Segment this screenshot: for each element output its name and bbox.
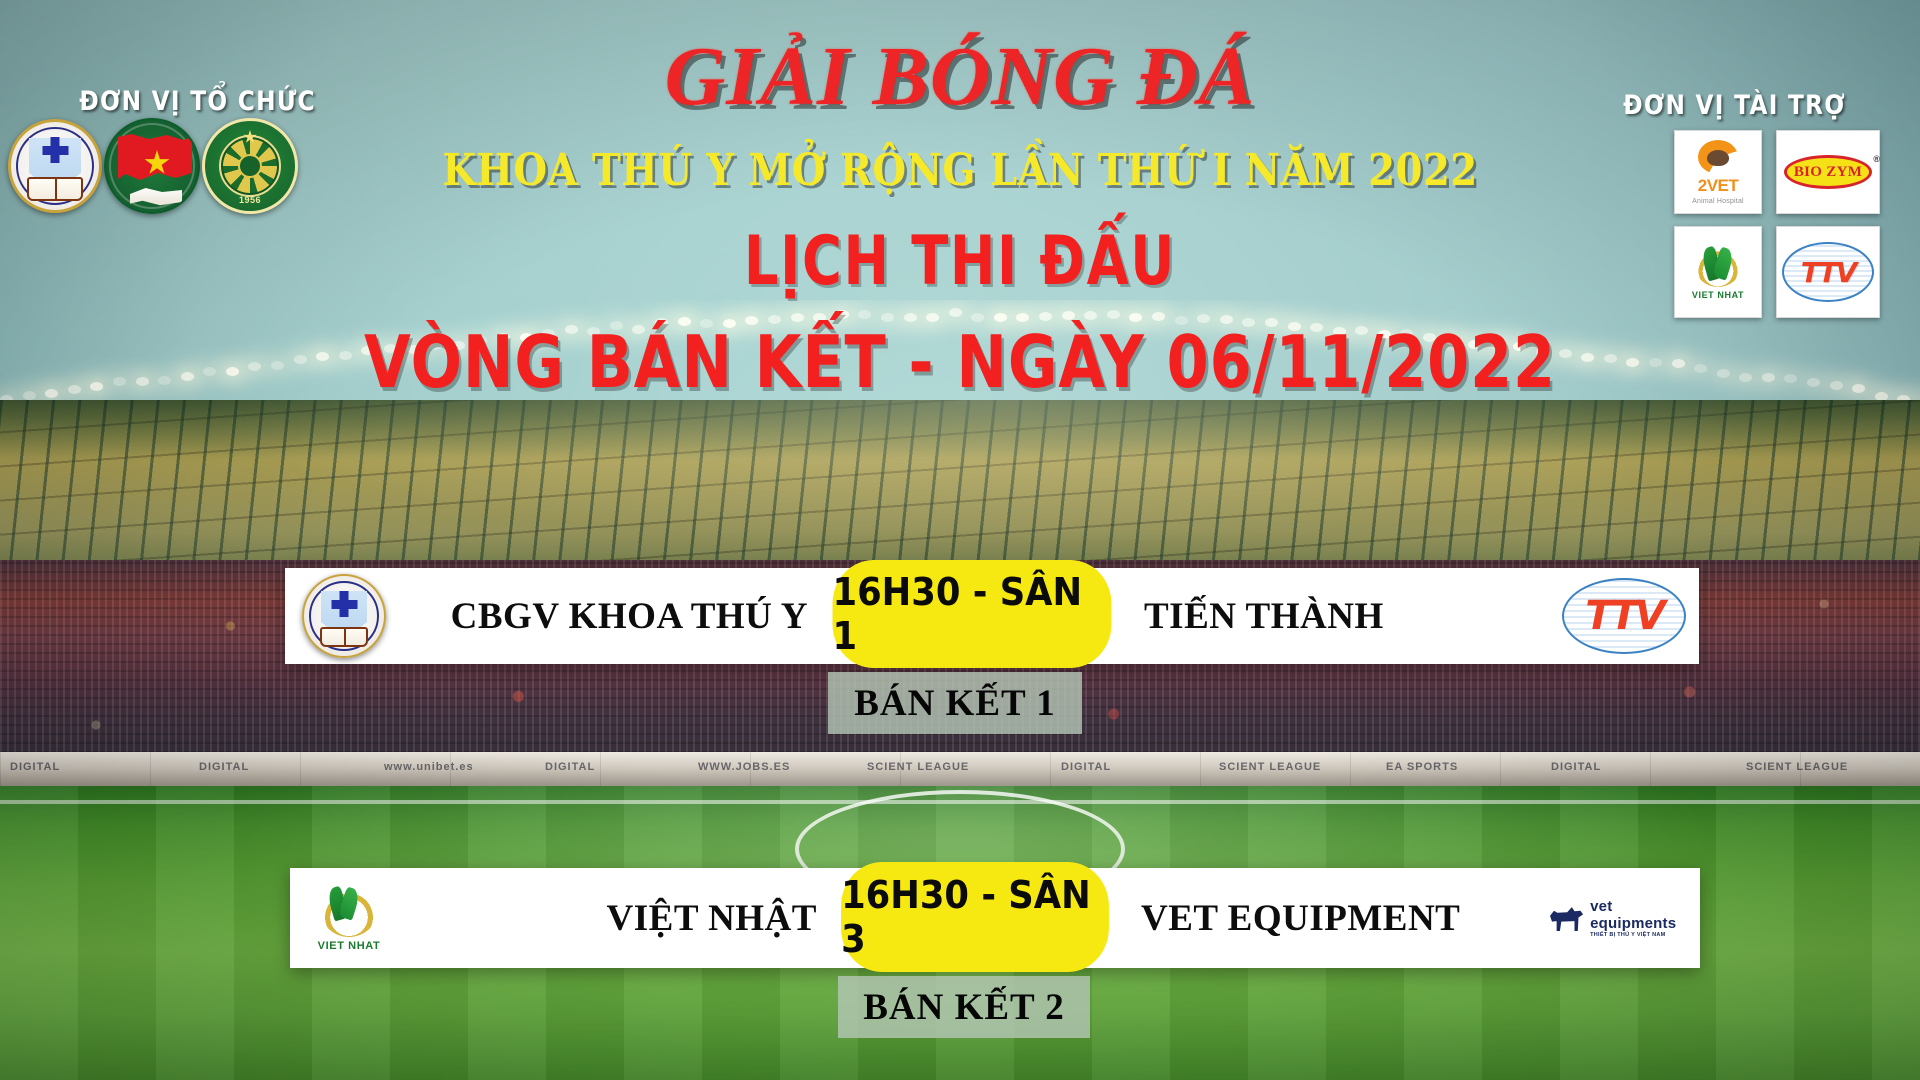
ttv-logo: TTV — [1562, 578, 1686, 654]
vet-equipments-title: vet equipments — [1590, 898, 1700, 932]
viet-nhat-logo-text: VIET NHAT — [318, 940, 381, 952]
floodlight — [1062, 311, 1075, 320]
ttv-oval-mark: TTV — [1782, 242, 1874, 302]
floodlight — [90, 382, 103, 391]
ad-board-text: EA SPORTS — [1386, 761, 1458, 773]
ad-board-text: DIGITAL — [1061, 761, 1111, 773]
home-team-name: VIỆT NHẬT — [408, 868, 831, 968]
match-stage-badge: BÁN KẾT 2 — [838, 976, 1090, 1038]
away-team-logo: TTV — [1549, 568, 1699, 664]
ad-board-text: SCIENT LEAGUE — [1746, 761, 1848, 773]
seal-year: 1956 — [239, 195, 261, 205]
open-book-icon — [320, 627, 368, 647]
ad-board-text: SCIENT LEAGUE — [1219, 761, 1321, 773]
away-team-name: VET EQUIPMENT — [1119, 868, 1550, 968]
match-time-venue: 16H30 - SÂN 3 — [841, 862, 1109, 972]
round-heading: VÒNG BÁN KẾT - NGÀY 06/11/2022 — [154, 320, 1767, 404]
floodlight — [1784, 374, 1797, 383]
dog-icon — [1550, 905, 1583, 931]
match-row: VIET NHAT VIỆT NHẬT 16H30 - SÂN 3 VET EQ… — [290, 868, 1700, 968]
floodlight — [45, 389, 58, 398]
floodlight — [1084, 311, 1097, 320]
ad-board-text: DIGITAL — [199, 761, 249, 773]
ad-board-text: DIGITAL — [1551, 761, 1601, 773]
sponsor-ttv-title: TTV — [1801, 256, 1856, 289]
floodlight — [1830, 381, 1843, 390]
floodlight — [1107, 310, 1120, 319]
floodlight — [1807, 378, 1820, 387]
ad-board-text: DIGITAL — [545, 761, 595, 773]
floodlight — [949, 308, 962, 317]
medical-cross-icon — [340, 591, 349, 617]
ad-board-text: www.unibet.es — [384, 761, 474, 773]
home-team-name: CBGV KHOA THÚ Y — [403, 568, 822, 664]
poster-canvas: DIGITALDIGITALwww.unibet.esDIGITALWWW.JO… — [0, 0, 1920, 1080]
schedule-heading: LỊCH THI ĐẤU — [192, 222, 1728, 301]
floodlight — [68, 385, 81, 394]
match-time-venue: 16H30 - SÂN 1 — [833, 560, 1112, 668]
viet-nhat-logo: VIET NHAT — [318, 885, 381, 952]
vet-equipments-tagline: THIẾT BỊ THÚ Y VIỆT NAM — [1590, 932, 1700, 938]
floodlight — [1852, 384, 1865, 393]
away-team-logo: vet equipments THIẾT BỊ THÚ Y VIỆT NAM — [1550, 868, 1700, 968]
home-team-logo: VIET NHAT — [290, 868, 408, 968]
sponsor-2vet-tagline: Animal Hospital — [1692, 198, 1744, 205]
ad-board-text: WWW.JOBS.ES — [698, 761, 790, 773]
sponsor-ttv-logo: TTV — [1776, 226, 1880, 318]
leaf-wheat-icon — [321, 885, 377, 937]
floodlight — [113, 377, 126, 386]
ad-board-text: SCIENT LEAGUE — [867, 761, 969, 773]
advertising-boards: DIGITALDIGITALwww.unibet.esDIGITALWWW.JO… — [0, 752, 1920, 786]
page-subtitle: KHOA THÚ Y MỞ RỘNG LẦN THỨ I NĂM 2022 — [115, 145, 1805, 196]
match-stage-badge: BÁN KẾT 1 — [828, 672, 1082, 734]
home-team-logo — [285, 568, 403, 664]
page-title: GIẢI BÓNG ĐÁ — [0, 28, 1920, 125]
faculty-veterinary-medicine-emblem — [302, 574, 386, 658]
ad-board-text: DIGITAL — [10, 761, 60, 773]
floodlight — [136, 377, 149, 386]
open-book-icon — [27, 177, 83, 201]
ttv-logo-text: TTV — [1585, 593, 1662, 639]
vet-equipments-logo: vet equipments THIẾT BỊ THÚ Y VIỆT NAM — [1550, 898, 1700, 938]
match-row: CBGV KHOA THÚ Y 16H30 - SÂN 1 TIẾN THÀNH… — [285, 568, 1699, 664]
away-team-name: TIẾN THÀNH — [1122, 568, 1549, 664]
floodlight — [23, 391, 36, 400]
faculty-veterinary-medicine-emblem — [8, 119, 102, 213]
medical-cross-icon — [51, 137, 60, 163]
floodlight — [836, 310, 849, 319]
floodlight — [858, 310, 871, 319]
